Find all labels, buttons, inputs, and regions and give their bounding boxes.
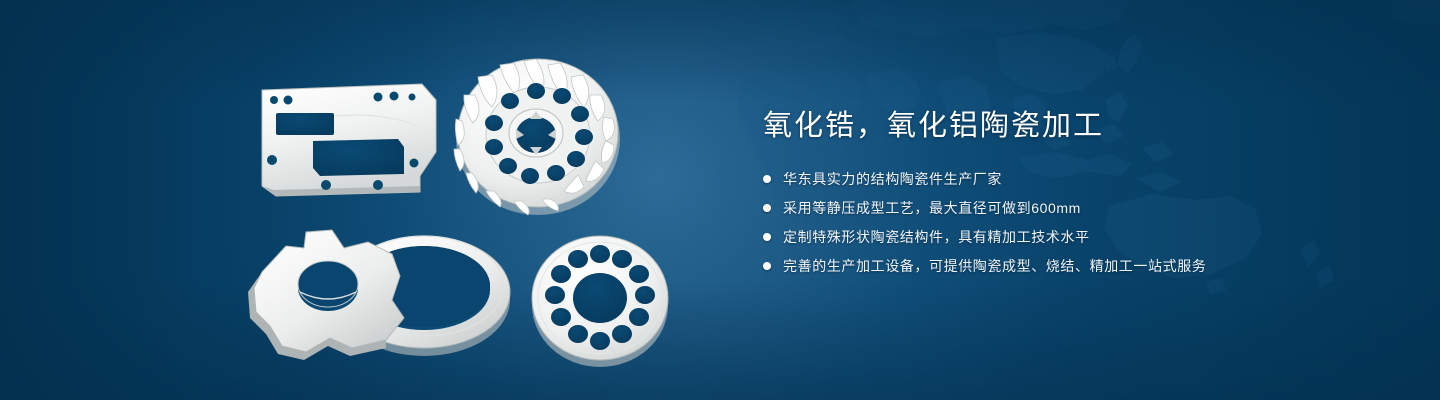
feature-text: 采用等静压成型工艺，最大直径可做到600mm	[783, 198, 1081, 218]
page-title: 氧化锆，氧化铝陶瓷加工	[763, 106, 1383, 146]
feature-list: 华东具实力的结构陶瓷件生产厂家 采用等静压成型工艺，最大直径可做到600mm 定…	[763, 168, 1383, 277]
list-item: 定制特殊形状陶瓷结构件，具有精加工技术水平	[763, 226, 1383, 248]
banner-copy: 氧化锆，氧化铝陶瓷加工 华东具实力的结构陶瓷件生产厂家 采用等静压成型工艺，最大…	[763, 106, 1383, 284]
ceramic-processing-banner: 氧化锆，氧化铝陶瓷加工 华东具实力的结构陶瓷件生产厂家 采用等静压成型工艺，最大…	[0, 0, 1440, 400]
ceramic-plate-part	[262, 84, 436, 196]
list-item: 华东具实力的结构陶瓷件生产厂家	[763, 168, 1383, 190]
bullet-dot-icon	[763, 204, 771, 212]
bullet-dot-icon	[763, 175, 771, 183]
feature-text: 定制特殊形状陶瓷结构件，具有精加工技术水平	[783, 227, 1090, 247]
ceramic-impeller-part	[454, 59, 620, 215]
ceramic-cross-and-ring-part	[248, 230, 510, 360]
ceramic-products-group	[0, 0, 720, 400]
feature-text: 华东具实力的结构陶瓷件生产厂家	[783, 169, 1002, 189]
list-item: 采用等静压成型工艺，最大直径可做到600mm	[763, 197, 1383, 219]
ceramic-perforated-disc-part	[532, 236, 668, 367]
bullet-dot-icon	[763, 262, 771, 270]
list-item: 完善的生产加工设备，可提供陶瓷成型、烧结、精加工一站式服务	[763, 255, 1383, 277]
bullet-dot-icon	[763, 233, 771, 241]
feature-text: 完善的生产加工设备，可提供陶瓷成型、烧结、精加工一站式服务	[783, 256, 1206, 276]
